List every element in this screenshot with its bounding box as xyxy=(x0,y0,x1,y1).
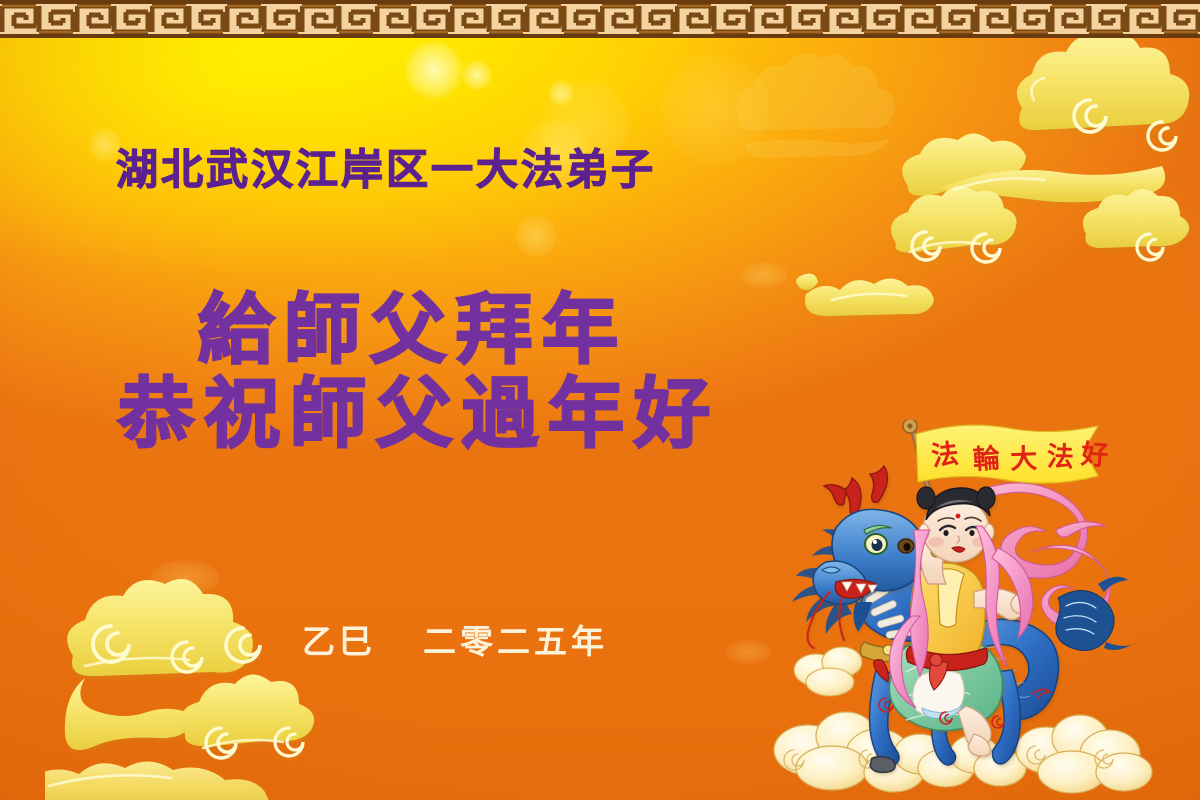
banner-char-3: 大 xyxy=(1010,444,1038,476)
greeting-card: 湖北武汉江岸区一大法弟子 給師父拜年 恭祝師父過年好 乙巳 二零二五年 xyxy=(0,0,1200,800)
date-year: 二零二五年 xyxy=(423,622,608,661)
greeting-line-2: 恭祝師父過年好 xyxy=(118,352,720,462)
banner-char-1: 法 xyxy=(930,439,961,473)
sender-line: 湖北武汉江岸区一大法弟子 xyxy=(116,136,656,197)
cloud-top-right-decoration xyxy=(790,38,1200,328)
banner-char-2: 輪 xyxy=(972,442,1002,476)
date-zodiac: 乙巳 xyxy=(302,622,376,661)
banner-char-4: 法 xyxy=(1046,442,1074,474)
cloud-bottom-left-decoration xyxy=(45,570,375,800)
date-line: 乙巳 二零二五年 xyxy=(302,615,608,663)
banner-char-5: 好 xyxy=(1079,439,1109,472)
top-border-meander xyxy=(0,0,1200,38)
child-riding-dragon-illustration: 法 輪 大 法 好 xyxy=(760,420,1190,800)
